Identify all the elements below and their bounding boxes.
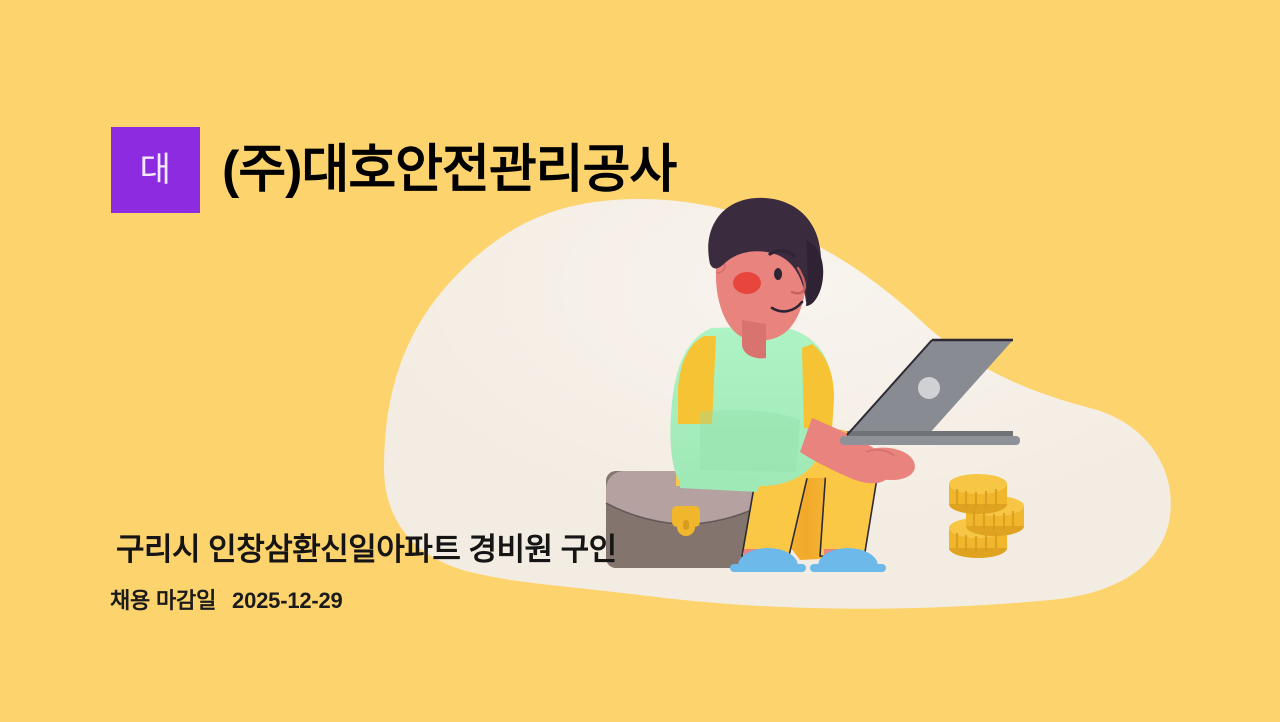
- person-legs: [676, 427, 886, 572]
- company-logo-initial: 대: [140, 153, 172, 187]
- briefcase: [606, 434, 768, 568]
- job-posting-poster: 대 (주)대호안전관리공사 구리시 인창삼환신일아파트 경비원 구인 채용 마감…: [0, 0, 1280, 722]
- company-logo: 대: [111, 127, 200, 213]
- person-head: [708, 198, 823, 359]
- deadline-date: 2025-12-29: [232, 588, 343, 613]
- company-name: (주)대호안전관리공사: [222, 143, 676, 198]
- brand-row: 대 (주)대호안전관리공사: [111, 127, 676, 213]
- person-torso: [670, 326, 914, 492]
- deadline-row: 채용 마감일 2025-12-29: [110, 583, 343, 615]
- job-headline: 구리시 인창삼환신일아파트 경비원 구인: [116, 524, 617, 569]
- laptop: [840, 340, 1020, 445]
- deadline-label: 채용 마감일: [110, 588, 216, 613]
- coin-stack: [949, 474, 1024, 558]
